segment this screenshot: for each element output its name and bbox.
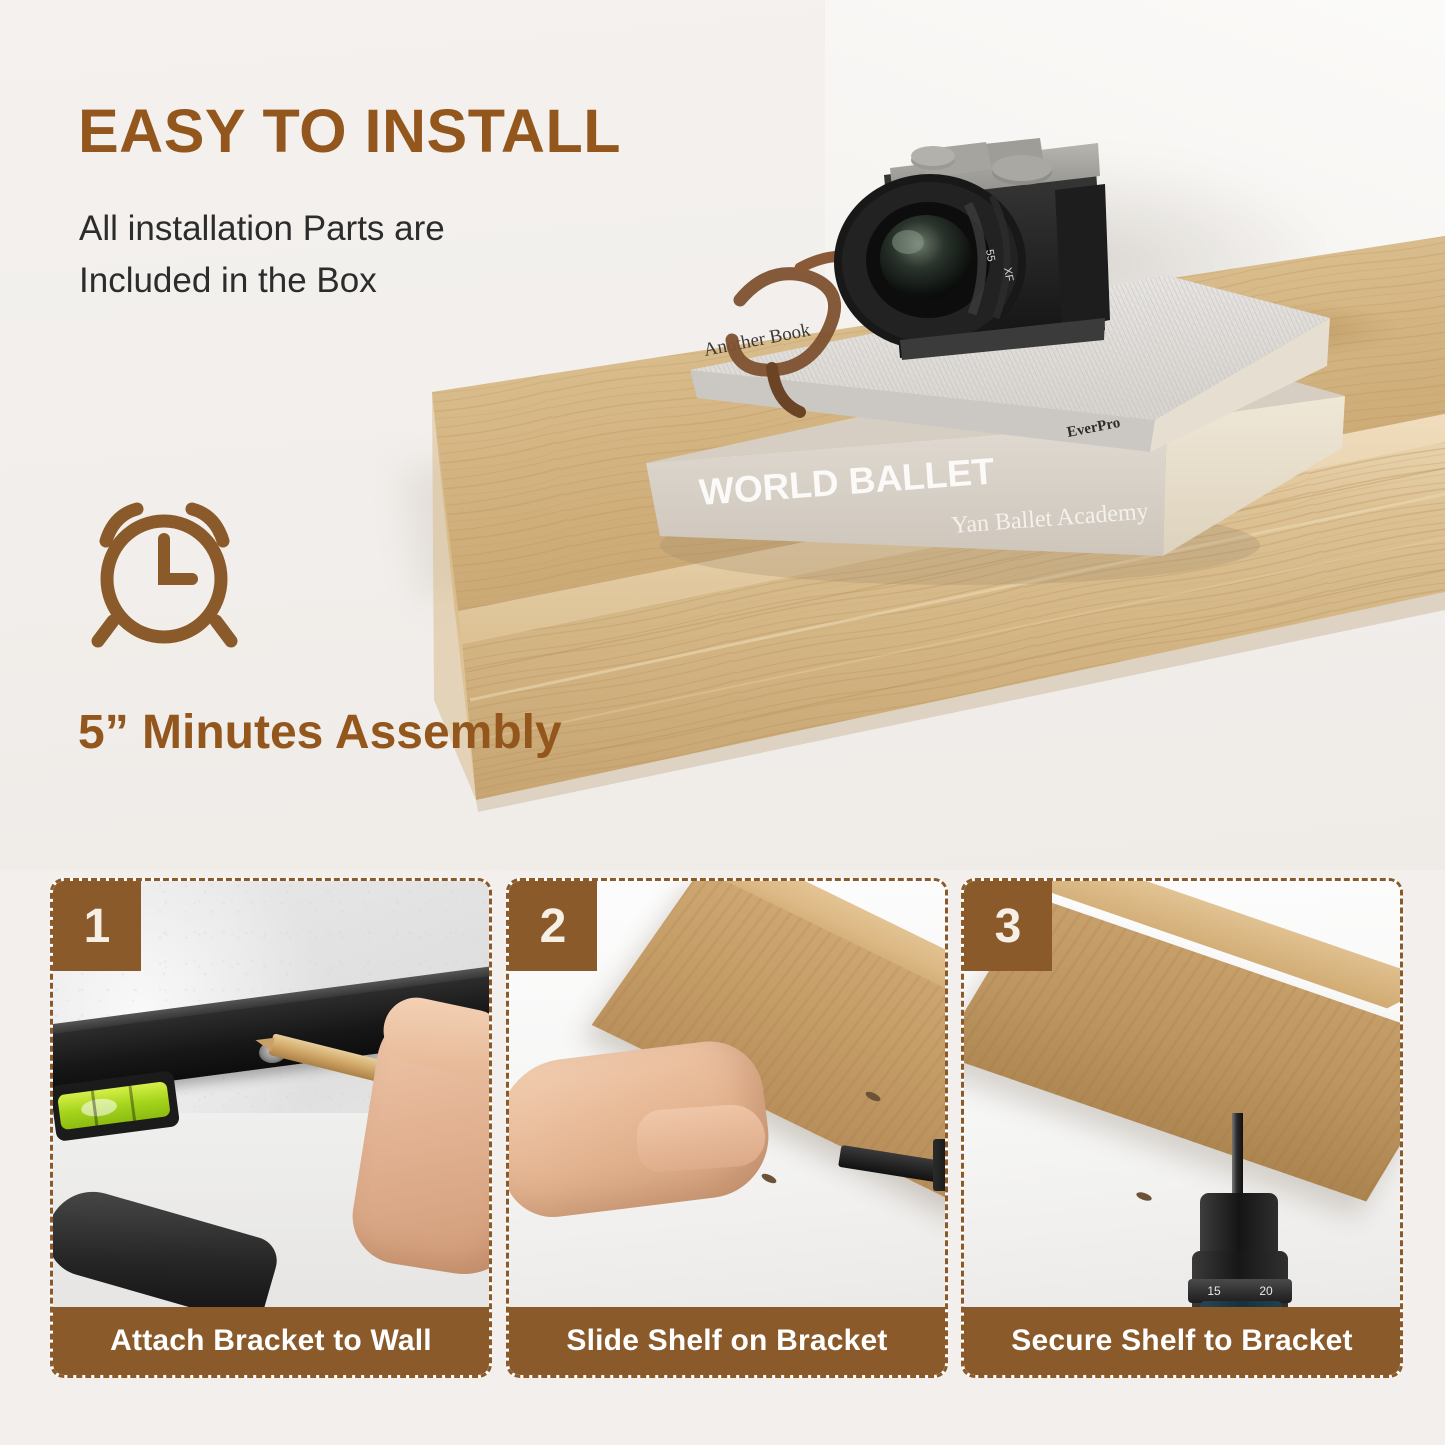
assembly-time-text: 5” Minutes Assembly xyxy=(78,705,562,760)
installation-steps: 1 Attach Bracket to Wall 2 Slide Shelf o… xyxy=(0,868,1445,1445)
drill-bit xyxy=(1232,1113,1243,1197)
drill-marking-20: 20 xyxy=(1259,1284,1272,1298)
subtitle-line-2: Included in the Box xyxy=(79,255,445,307)
hero-section: WORLD BALLET Yan Ballet Academy Another … xyxy=(0,0,1445,870)
step-number-badge-3: 3 xyxy=(964,881,1052,971)
thumb xyxy=(635,1103,767,1174)
step-caption-1: Attach Bracket to Wall xyxy=(53,1307,489,1375)
drill-torque-collar: 15 20 xyxy=(1188,1279,1292,1303)
page-title: EASY TO INSTALL xyxy=(78,96,621,166)
subtitle: All installation Parts are Included in t… xyxy=(79,203,445,307)
step-panel-1: 1 Attach Bracket to Wall xyxy=(50,878,492,1378)
camera: 55 XF xyxy=(834,138,1110,360)
step-caption-3: Secure Shelf to Bracket xyxy=(964,1307,1400,1375)
step-panel-3: 15 20 3 Secure Shelf to Bracket xyxy=(961,878,1403,1378)
step-number-badge-1: 1 xyxy=(53,881,141,971)
step-caption-2: Slide Shelf on Bracket xyxy=(509,1307,945,1375)
svg-text:XF: XF xyxy=(1001,266,1015,282)
bubble-vial xyxy=(57,1081,171,1130)
subtitle-line-1: All installation Parts are xyxy=(79,203,445,255)
drill-marking-15: 15 xyxy=(1207,1284,1220,1298)
step-panel-2: 2 Slide Shelf on Bracket xyxy=(506,878,948,1378)
step-number-badge-2: 2 xyxy=(509,881,597,971)
drill-chuck xyxy=(1200,1193,1278,1257)
svg-text:55: 55 xyxy=(983,248,997,262)
alarm-clock-icon xyxy=(82,495,247,660)
